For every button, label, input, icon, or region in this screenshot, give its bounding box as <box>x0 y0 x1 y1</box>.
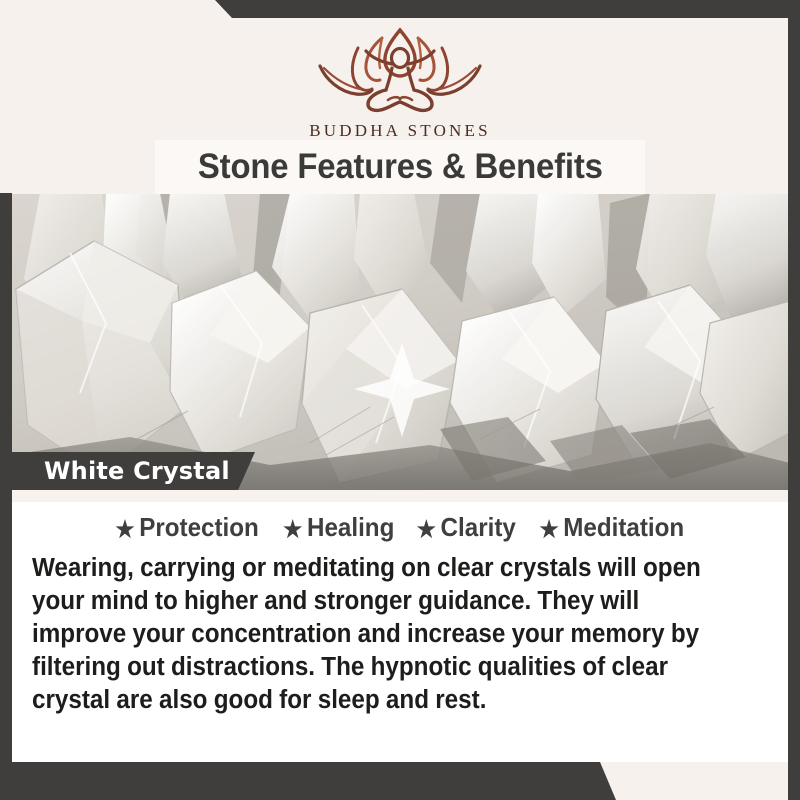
benefit-label: Healing <box>307 512 394 542</box>
description-paragraph: Wearing, carrying or meditating on clear… <box>32 552 735 717</box>
star-icon: ★ <box>417 516 436 543</box>
star-icon: ★ <box>116 516 135 543</box>
benefits-list: ★Protection ★Healing ★Clarity ★Meditatio… <box>12 512 788 543</box>
star-icon: ★ <box>539 516 558 543</box>
benefit-label: Protection <box>140 512 260 542</box>
benefit-label: Clarity <box>441 512 516 542</box>
photo-caption-label: White Crystal <box>44 457 230 485</box>
benefit-item-protection: ★Protection <box>116 512 259 543</box>
frame-bottom-accent <box>0 762 800 800</box>
benefit-item-clarity: ★Clarity <box>417 512 516 543</box>
lotus-meditation-icon <box>0 22 800 119</box>
benefit-label: Meditation <box>563 512 684 542</box>
brand-logo: BUDDHA STONES <box>0 22 800 141</box>
body-panel: ★Protection ★Healing ★Clarity ★Meditatio… <box>12 490 788 762</box>
photo-caption-tag: White Crystal <box>10 452 255 490</box>
panel-top-divider <box>12 490 788 502</box>
benefit-item-meditation: ★Meditation <box>539 512 684 543</box>
page-title: Stone Features & Benefits <box>198 147 603 187</box>
brand-name: BUDDHA STONES <box>0 121 800 141</box>
frame-left-accent <box>0 193 12 800</box>
crystal-photo <box>10 193 790 490</box>
title-banner: Stone Features & Benefits <box>155 140 645 194</box>
frame-right-accent <box>788 0 800 800</box>
star-icon: ★ <box>283 516 302 543</box>
poster-root: BUDDHA STONES <box>0 0 800 800</box>
benefit-item-healing: ★Healing <box>283 512 394 543</box>
